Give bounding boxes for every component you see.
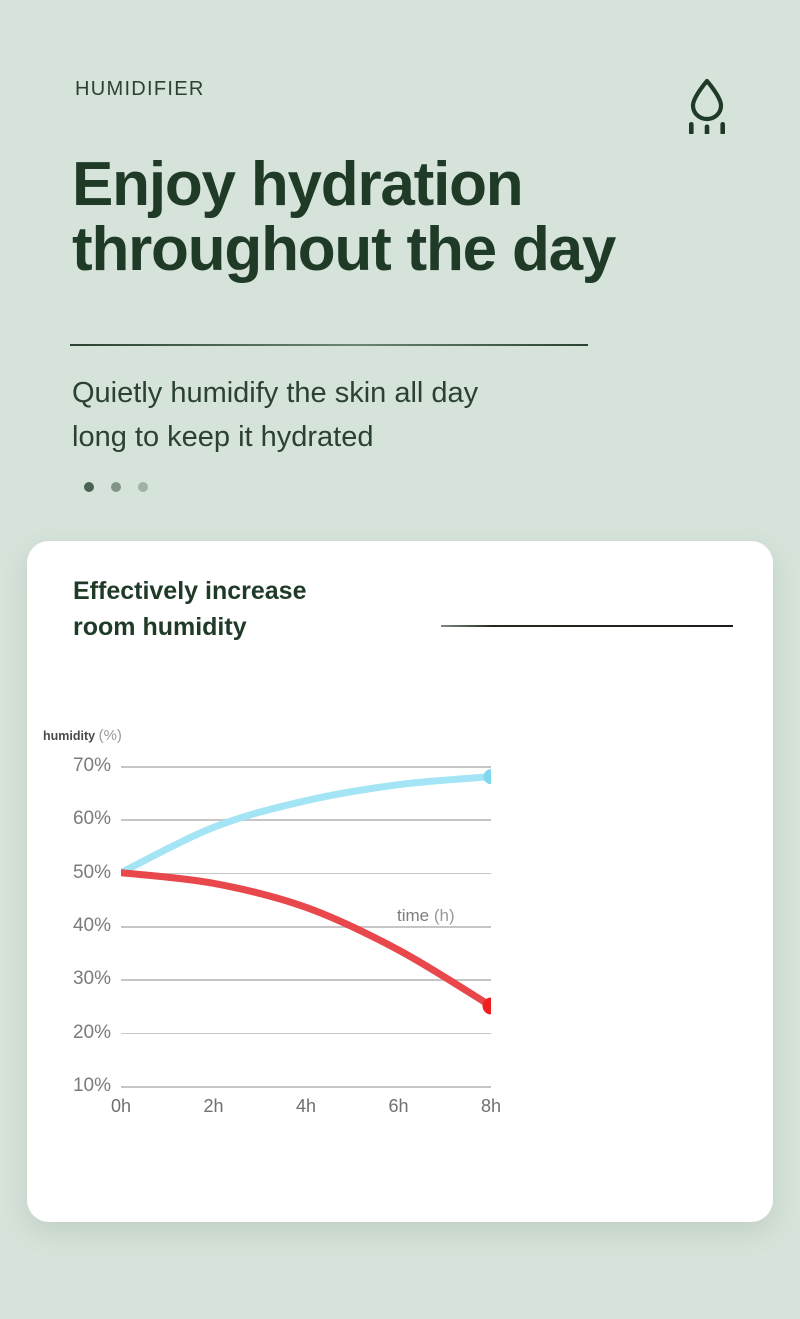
y-axis-label-name: humidity xyxy=(43,729,95,743)
y-tick-label: 50% xyxy=(45,862,111,884)
x-axis-label: time (h) xyxy=(397,906,455,926)
headline-line-2: throughout the day xyxy=(72,217,762,282)
carousel-dot-1[interactable] xyxy=(84,482,94,492)
x-tick-label: 0h xyxy=(111,1096,131,1117)
gridline xyxy=(121,1086,491,1088)
x-tick-label: 2h xyxy=(203,1096,223,1117)
y-tick-label: 70% xyxy=(45,755,111,777)
product-page: HUMIDIFIER Enjoy hydration throughout th… xyxy=(0,0,800,1319)
humidity-chart-card: Effectively increase room humidity humid… xyxy=(27,541,773,1222)
x-tick-label: 6h xyxy=(388,1096,408,1117)
carousel-dot-2[interactable] xyxy=(111,482,121,492)
eyebrow-label: HUMIDIFIER xyxy=(75,78,205,101)
x-axis-label-name: time xyxy=(397,906,429,925)
hero-divider xyxy=(70,344,588,346)
humidity-line-chart: humidity (%) 70%60%50%40%30%20%10% 0h2h4… xyxy=(27,541,773,1222)
y-tick-label: 40% xyxy=(45,915,111,937)
subtitle-line-1: Quietly humidify the skin all day xyxy=(72,377,478,409)
series-line-dry xyxy=(121,873,491,1006)
series-endpoint-moist xyxy=(484,769,492,784)
y-tick-label: 60% xyxy=(45,808,111,830)
water-droplet-icon xyxy=(680,76,734,134)
carousel-dots[interactable] xyxy=(84,482,148,492)
headline-line-1: Enjoy hydration xyxy=(72,150,522,219)
series-line-moist xyxy=(121,777,491,873)
x-tick-label: 4h xyxy=(296,1096,316,1117)
carousel-dot-3[interactable] xyxy=(138,482,148,492)
y-axis-label-unit: (%) xyxy=(99,727,122,744)
y-axis-label: humidity (%) xyxy=(43,727,122,744)
y-tick-label: 30% xyxy=(45,968,111,990)
page-title: Enjoy hydration throughout the day xyxy=(72,152,762,282)
hero-subtitle: Quietly humidify the skin all day long t… xyxy=(72,372,692,459)
y-tick-label: 20% xyxy=(45,1022,111,1044)
x-tick-label: 8h xyxy=(481,1096,501,1117)
x-axis-label-unit: (h) xyxy=(434,906,455,925)
y-tick-label: 10% xyxy=(45,1075,111,1097)
subtitle-line-2: long to keep it hydrated xyxy=(72,416,692,460)
chart-curves xyxy=(121,766,491,1086)
plot-area: 70%60%50%40%30%20%10% 0h2h4h6h8h xyxy=(45,766,491,1086)
